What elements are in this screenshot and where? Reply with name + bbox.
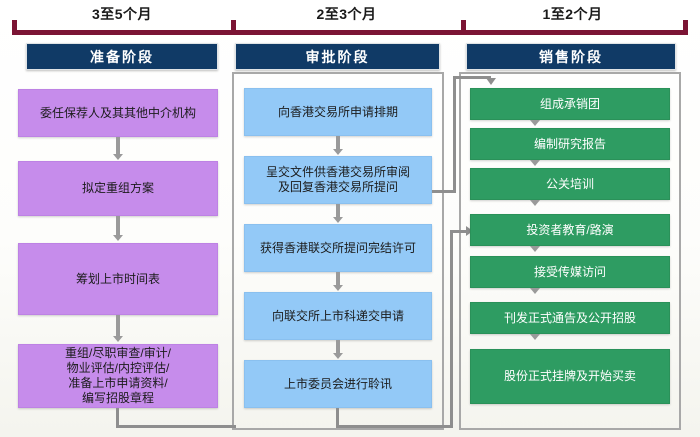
step-box-pr-training[interactable]: 公关培训 <box>470 168 670 200</box>
arrow-head-icon <box>530 160 540 166</box>
step-label: 上市委员会进行聆讯 <box>284 377 392 392</box>
phase-header-approval[interactable]: 审批阶段 <box>235 43 440 70</box>
timeline-label-approval: 2至3个月 <box>231 4 462 24</box>
arrow-line <box>336 340 340 354</box>
arrow-head-icon <box>333 353 343 359</box>
arrow-head-icon <box>113 336 123 342</box>
step-box-submit-documents[interactable]: 呈交文件供香港交易所审阅 及回复香港交易所提问 <box>244 156 432 204</box>
step-box-share-listing[interactable]: 股份正式挂牌及开始买卖 <box>470 349 670 404</box>
step-box-public-offering[interactable]: 刊发正式通告及公开招股 <box>470 302 670 334</box>
arrow-line <box>336 204 340 218</box>
arrow-head-icon <box>113 235 123 241</box>
connector-prep-to-approval-horizontal <box>116 425 236 428</box>
flowchart-canvas: 3至5个月 2至3个月 1至2个月 准备阶段 审批阶段 销售阶段 委任保荐人及其… <box>0 0 700 437</box>
arrow-line <box>116 137 120 155</box>
step-label: 向联交所上市科递交申请 <box>272 309 404 324</box>
step-label: 向香港交易所申请排期 <box>278 105 398 120</box>
arrow-head-icon <box>530 120 540 126</box>
arrow-head-icon <box>333 149 343 155</box>
timeline-bar <box>12 30 688 35</box>
timeline-label-preparation: 3至5个月 <box>12 4 232 24</box>
step-label: 股份正式挂牌及开始买卖 <box>504 369 636 384</box>
step-label: 筹划上市时间表 <box>76 272 160 287</box>
step-label: 投资者教育/路演 <box>526 223 613 238</box>
step-label: 刊发正式通告及公开招股 <box>504 311 636 326</box>
step-label: 接受传媒访问 <box>534 265 606 280</box>
step-box-listing-timetable[interactable]: 筹划上市时间表 <box>18 243 218 315</box>
step-box-due-diligence[interactable]: 重组/尽职审查/审计/ 物业评估/内控评估/ 准备上市申请资料/ 编写招股章程 <box>18 344 218 408</box>
arrow-line <box>336 136 340 150</box>
step-box-form-syndicate[interactable]: 组成承销团 <box>470 88 670 120</box>
step-box-research-report[interactable]: 编制研究报告 <box>470 128 670 160</box>
phase-header-sales[interactable]: 销售阶段 <box>466 43 676 70</box>
arrow-head-icon <box>333 285 343 291</box>
step-box-clearance[interactable]: 获得香港联交所提问完结许可 <box>244 224 432 272</box>
arrow-line <box>116 216 120 236</box>
step-box-apply-schedule[interactable]: 向香港交易所申请排期 <box>244 88 432 136</box>
step-label: 拟定重组方案 <box>82 181 154 196</box>
arrow-head-icon <box>530 200 540 206</box>
step-label: 公关培训 <box>546 177 594 192</box>
step-box-appoint-sponsor[interactable]: 委任保荐人及其其他中介机构 <box>18 89 218 137</box>
step-box-file-application[interactable]: 向联交所上市科递交申请 <box>244 292 432 340</box>
arrow-head-icon <box>530 334 540 340</box>
phase-header-preparation[interactable]: 准备阶段 <box>26 43 218 70</box>
connector-approval-bottom-horizontal <box>336 425 453 428</box>
step-box-investor-education[interactable]: 投资者教育/路演 <box>470 214 670 246</box>
timeline-label-sales: 1至2个月 <box>461 4 684 24</box>
step-box-media-interview[interactable]: 接受传媒访问 <box>470 256 670 288</box>
step-label: 委任保荐人及其其他中介机构 <box>40 106 196 121</box>
arrow-head-icon <box>530 246 540 252</box>
arrow-line <box>116 315 120 337</box>
step-box-listing-hearing[interactable]: 上市委员会进行聆讯 <box>244 360 432 408</box>
connector-approval-to-sales-a-vertical <box>453 76 456 193</box>
connector-sales-b-vertical <box>450 230 453 428</box>
arrow-line <box>336 272 340 286</box>
step-label: 重组/尽职审查/审计/ 物业评估/内控评估/ 准备上市申请资料/ 编写招股章程 <box>65 346 171 406</box>
step-box-restructure-plan[interactable]: 拟定重组方案 <box>18 161 218 216</box>
connector-arrow-head-icon <box>486 78 496 85</box>
step-label: 编制研究报告 <box>534 137 606 152</box>
arrow-head-icon <box>113 154 123 160</box>
arrow-head-icon <box>333 217 343 223</box>
step-label: 组成承销团 <box>540 97 600 112</box>
step-label: 获得香港联交所提问完结许可 <box>260 241 416 256</box>
step-label: 呈交文件供香港交易所审阅 及回复香港交易所提问 <box>266 165 410 195</box>
arrow-head-icon <box>530 288 540 294</box>
